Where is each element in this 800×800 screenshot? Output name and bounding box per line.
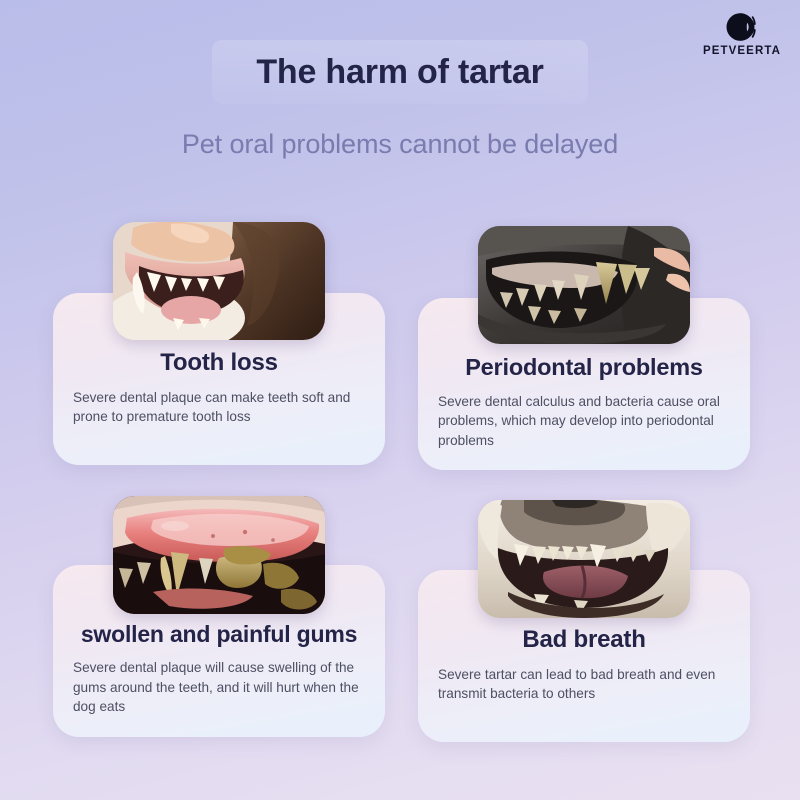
card-title: Tooth loss — [73, 349, 365, 377]
card-body: Severe dental plaque can make teeth soft… — [73, 388, 365, 427]
page-title: The harm of tartar — [0, 52, 800, 93]
card-body: Severe dental calculus and bacteria caus… — [438, 392, 730, 450]
card-body: Severe dental plaque will cause swelling… — [73, 658, 365, 716]
brand-logo: PETVEERTA — [696, 10, 788, 58]
dog-mouth-tooth-loss-photo — [113, 222, 325, 340]
card-body: Severe tartar can lead to bad breath and… — [438, 665, 730, 704]
petveerta-paw-c-logo-icon — [725, 10, 759, 44]
page-subtitle: Pet oral problems cannot be delayed — [0, 128, 800, 160]
card-title: Bad breath — [438, 626, 730, 654]
poster-root: PETVEERTA The harm of tartar Pet oral pr… — [0, 0, 800, 800]
dog-mouth-periodontal-tartar-photo — [478, 226, 690, 344]
card-title: swollen and painful gums — [73, 621, 365, 647]
card-title: Periodontal problems — [438, 354, 730, 381]
dog-mouth-swollen-gums-photo — [113, 496, 325, 614]
dog-mouth-bad-breath-photo — [478, 500, 690, 618]
